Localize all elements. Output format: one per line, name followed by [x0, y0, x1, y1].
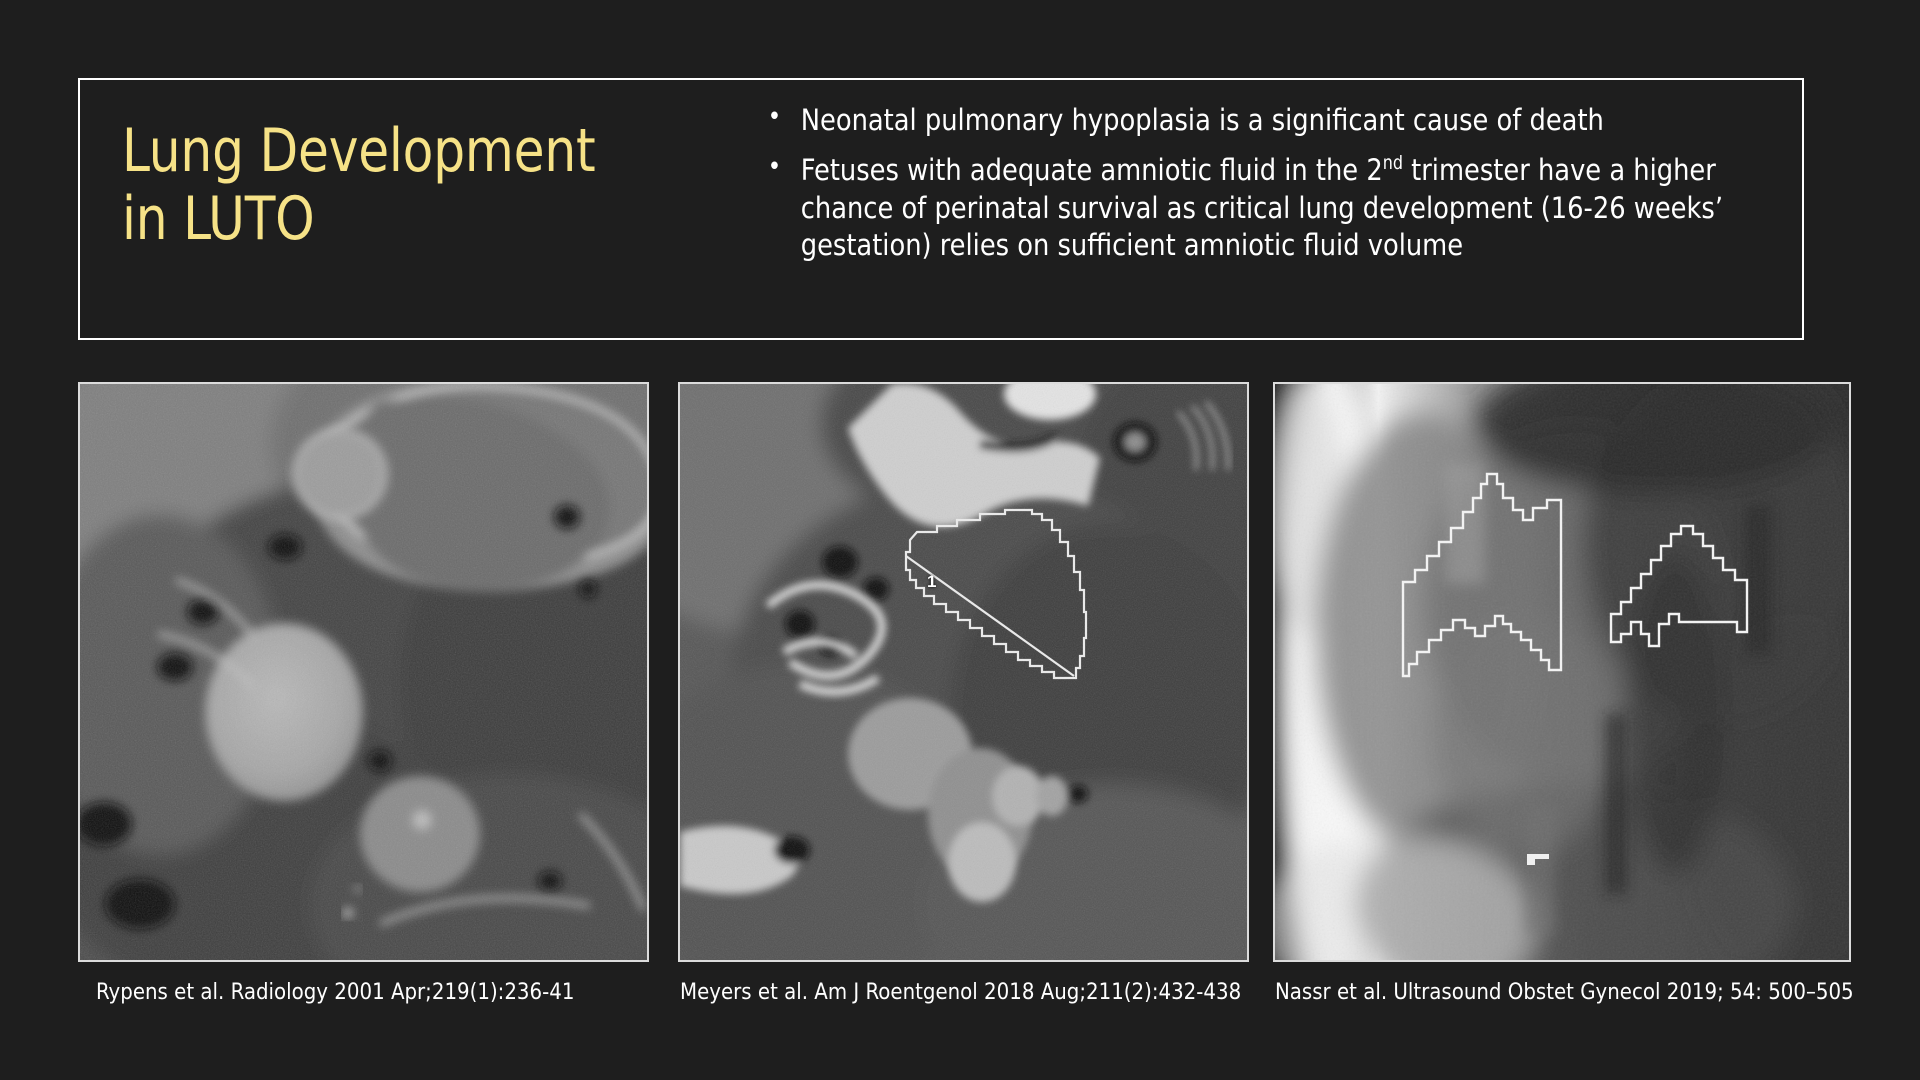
figure-2-frame: 1 [678, 382, 1249, 962]
figure-1: Rypens et al. Radiology 2001 Apr;219(1):… [78, 382, 649, 1006]
figure-2-caption: Meyers et al. Am J Roentgenol 2018 Aug;2… [678, 980, 1249, 1006]
bullet-item-1: Neonatal pulmonary hypoplasia is a signi… [760, 102, 1732, 139]
figure-3-frame [1273, 382, 1851, 962]
figure-3: Nassr et al. Ultrasound Obstet Gynecol 2… [1273, 382, 1851, 1006]
figure-1-caption: Rypens et al. Radiology 2001 Apr;219(1):… [78, 980, 649, 1006]
title-column: Lung Development in LUTO [80, 80, 760, 254]
figure-1-frame [78, 382, 649, 962]
header-box: Lung Development in LUTO Neonatal pulmon… [78, 78, 1804, 340]
bullet-item-2: Fetuses with adequate amniotic fluid in … [760, 152, 1732, 264]
bullets-column: Neonatal pulmonary hypoplasia is a signi… [760, 80, 1802, 278]
bullet-text-2-before: Fetuses with adequate amniotic fluid in … [801, 153, 1383, 187]
fetal-mri-lung-tracing-image [680, 384, 1247, 960]
bullet-text-1: Neonatal pulmonary hypoplasia is a signi… [801, 103, 1604, 137]
figure-row: Rypens et al. Radiology 2001 Apr;219(1):… [0, 382, 1920, 1022]
ordinal-suffix: nd [1383, 154, 1403, 175]
bullet-list: Neonatal pulmonary hypoplasia is a signi… [760, 102, 1762, 265]
figure-3-caption: Nassr et al. Ultrasound Obstet Gynecol 2… [1273, 980, 1851, 1006]
fetal-mri-bladder-image [80, 384, 647, 960]
fetal-ultrasound-lung-tracings-image [1275, 384, 1849, 960]
presentation-slide: Lung Development in LUTO Neonatal pulmon… [0, 0, 1920, 1080]
figure-2: 1 Meyers et al. Am J Roentgenol 2018 Aug… [678, 382, 1249, 1006]
page-title: Lung Development in LUTO [122, 118, 715, 254]
contour-label-1: 1 [927, 572, 936, 592]
